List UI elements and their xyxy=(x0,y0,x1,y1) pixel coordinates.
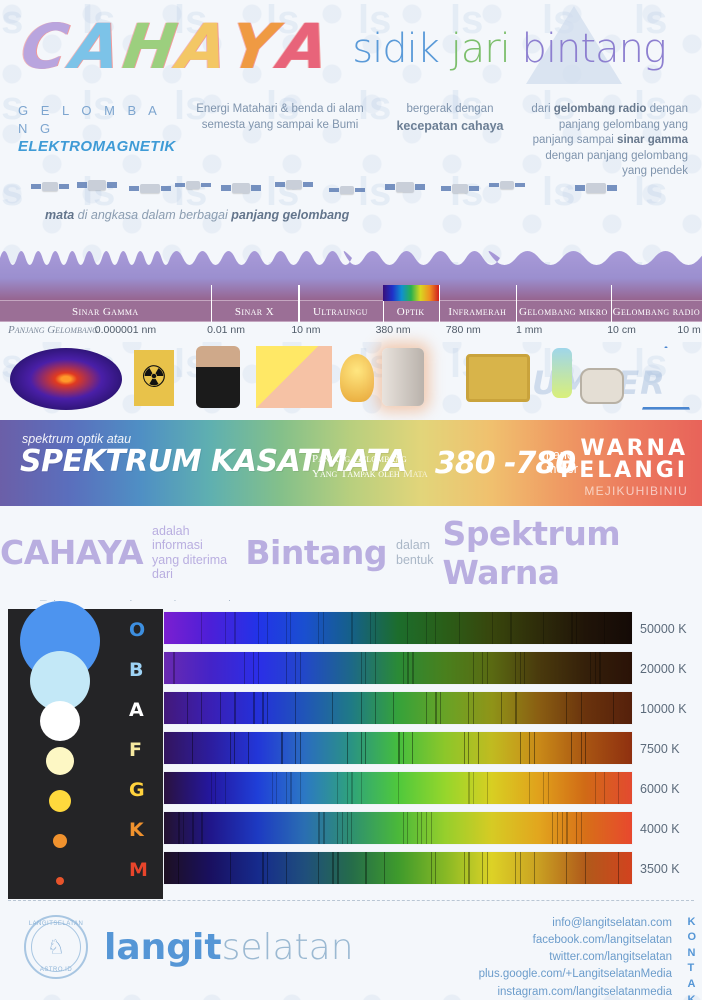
absorption-line xyxy=(375,612,377,644)
satellite-icon-10 xyxy=(586,183,606,193)
satellite-caption-bold1: mata xyxy=(45,208,74,222)
intro-column-energy: Energi Matahari & benda di alam semesta … xyxy=(182,102,378,180)
absorption-line xyxy=(351,772,353,804)
satellite-icon-8 xyxy=(452,184,468,193)
contact-line-3[interactable]: plus.google.com/+LangitselatanMedia xyxy=(479,966,672,983)
absorption-line xyxy=(234,612,236,644)
poster-footer: LANGITSELATAN ASTRO.ID ♘ langitselatan i… xyxy=(0,901,702,993)
absorption-line xyxy=(566,692,567,724)
spectrum-strip-F xyxy=(163,731,633,765)
wavelength-value-4: 780 nm xyxy=(446,324,481,336)
satellite-icon-4 xyxy=(232,183,250,193)
absorption-line xyxy=(618,852,619,884)
em-band-optik: Optik xyxy=(383,301,439,323)
absorption-line xyxy=(286,772,287,804)
absorption-line xyxy=(464,852,465,884)
subtitle-word-1: sidik xyxy=(352,26,439,72)
absorption-line xyxy=(403,812,404,844)
absorption-line xyxy=(365,652,366,684)
infographic-poster: lslslslslslslslslslslslslslslslslslslsls… xyxy=(0,0,702,1000)
absorption-line xyxy=(524,652,525,684)
absorption-line xyxy=(431,812,432,844)
contact-line-0[interactable]: info@langitselatan.com xyxy=(479,915,672,932)
absorption-line xyxy=(375,652,376,684)
absorption-line xyxy=(290,612,291,644)
absorption-line xyxy=(412,732,413,764)
absorption-line xyxy=(300,772,302,804)
wavelength-value-row: Panjang Gelombang 0.000001 nm0.01 nm10 n… xyxy=(0,322,702,342)
temperature-label-G: 6000 K xyxy=(640,782,680,796)
absorption-line xyxy=(482,852,483,884)
kontak-letter-1: O xyxy=(687,930,696,946)
em-source-icons-row: SUMBER ☢ xyxy=(0,342,702,420)
absorption-line xyxy=(613,692,614,724)
absorption-line xyxy=(267,692,268,724)
absorption-line xyxy=(337,772,338,804)
mobile-phone-icon xyxy=(552,348,572,398)
absorption-line xyxy=(581,692,583,724)
satellite-icon-9 xyxy=(500,181,514,189)
absorption-line xyxy=(375,692,376,724)
absorption-line xyxy=(529,772,530,804)
absorption-line xyxy=(361,692,363,724)
temperature-label-B: 20000 K xyxy=(640,662,687,676)
absorption-line xyxy=(295,732,296,764)
temperature-label-M: 3500 K xyxy=(640,862,680,876)
mejikuhibiniu-label: MEJIKUHIBINIU xyxy=(560,484,688,498)
absorption-line xyxy=(220,692,221,724)
brand-wordmark: langitselatan xyxy=(104,927,354,968)
absorption-line xyxy=(230,852,232,884)
intro-column-range: dari gelombang radio dengan panjang gelo… xyxy=(522,102,688,180)
absorption-line xyxy=(520,852,522,884)
absorption-line xyxy=(225,612,227,644)
absorption-line xyxy=(435,612,436,644)
absorption-line xyxy=(557,812,558,844)
absorption-line xyxy=(482,652,483,684)
absorption-line xyxy=(365,732,366,764)
kontak-letter-2: N xyxy=(687,946,696,962)
absorption-line xyxy=(290,772,292,804)
stmt-yang-diterima: yang diterima dari xyxy=(152,553,236,582)
radio-icon xyxy=(580,368,624,404)
absorption-line xyxy=(318,852,319,884)
absorption-line xyxy=(417,812,418,844)
em-band-gelombang-mikro: Gelombang mikro xyxy=(516,301,611,323)
absorption-line xyxy=(576,612,577,644)
absorption-line xyxy=(576,812,578,844)
visible-spectrum-banner: spektrum optik atau SPEKTRUM KASATMATA P… xyxy=(0,420,702,506)
absorption-line xyxy=(599,652,601,684)
absorption-line xyxy=(178,812,180,844)
title-letter-1: A xyxy=(67,16,128,78)
absorption-line xyxy=(398,732,400,764)
absorption-line xyxy=(318,812,320,844)
satellite-icon-2 xyxy=(140,184,160,193)
star-disc-F xyxy=(46,747,74,775)
absorption-line xyxy=(473,652,475,684)
intro-column-speed: bergerak dengan kecepatan cahaya xyxy=(390,102,510,180)
spectrum-strip-B xyxy=(163,651,633,685)
title-letter-0: C xyxy=(18,16,76,78)
intro-elektromagnetik-label: ELEKTROMAGNETIK xyxy=(18,137,170,157)
absorption-line xyxy=(407,652,409,684)
pg-word-panjang: Panjang xyxy=(312,453,350,465)
absorption-line xyxy=(543,612,544,644)
absorption-line xyxy=(590,652,591,684)
intro-gelombang-label: G E L O M B A N G xyxy=(18,102,170,137)
page-title: CAHAYA xyxy=(22,16,332,78)
satellite-icon-3 xyxy=(186,181,200,189)
title-letter-2: H xyxy=(119,16,184,78)
mini-rainbow-icon xyxy=(383,285,439,301)
absorption-line xyxy=(464,732,465,764)
absorption-line xyxy=(370,612,371,644)
spectrum-strip-A xyxy=(163,691,633,725)
absorption-line xyxy=(258,612,259,644)
absorption-line xyxy=(468,852,470,884)
absorption-line xyxy=(562,812,563,844)
contact-line-4[interactable]: instagram.com/langitselatanmedia xyxy=(479,984,672,1000)
absorption-line xyxy=(426,612,427,644)
em-band-divider-5 xyxy=(516,285,518,323)
radioactive-sign-icon: ☢ xyxy=(134,350,174,406)
absorption-line xyxy=(295,692,296,724)
absorption-line xyxy=(407,812,408,844)
em-band-label-bar: Sinar GammaSinar XUltraunguOptikInframer… xyxy=(0,300,702,322)
brand-part-selatan: selatan xyxy=(222,927,354,968)
absorption-line xyxy=(604,772,605,804)
stmt-adalah-informasi: adalah informasi xyxy=(152,524,236,553)
em-band-sinar-x: Sinar X xyxy=(211,301,299,323)
infrared-heater-icon xyxy=(382,348,424,406)
spectral-class-label-K: K xyxy=(129,819,144,841)
spectral-class-label-G: G xyxy=(129,779,145,801)
spectrum-strip-G xyxy=(163,771,633,805)
absorption-line xyxy=(215,772,216,804)
absorption-line xyxy=(421,812,422,844)
absorption-line xyxy=(337,852,339,884)
absorption-line xyxy=(178,852,179,884)
absorption-line xyxy=(468,772,470,804)
intro-column-em: G E L O M B A N G ELEKTROMAGNETIK xyxy=(18,102,170,180)
star-disc-K xyxy=(53,834,67,848)
stmt-spektrum-warna: Spektrum Warna xyxy=(443,514,702,592)
pg-word-yang: Yang xyxy=(312,468,337,480)
absorption-line xyxy=(492,612,494,644)
microwave-pizza-icon xyxy=(466,354,530,402)
absorption-line xyxy=(253,652,254,684)
wave-svg xyxy=(0,238,702,300)
absorption-line xyxy=(595,652,597,684)
absorption-line xyxy=(581,812,582,844)
absorption-line xyxy=(248,732,249,764)
stmt-bintang: Bintang xyxy=(245,533,387,572)
absorption-line xyxy=(548,772,549,804)
satellite-icon-0 xyxy=(42,182,58,191)
spectral-class-chart: O50000 KB20000 KA10000 KF7500 KG6000 KK4… xyxy=(0,601,702,901)
intro-range-p1: dari xyxy=(531,103,553,115)
wavelength-value-3: 380 nm xyxy=(376,324,411,336)
absorption-line xyxy=(332,692,333,724)
wavelength-row-label: Panjang Gelombang xyxy=(8,324,98,336)
intro-text-block: G E L O M B A N G ELEKTROMAGNETIK Energi… xyxy=(0,96,702,180)
temperature-label-O: 50000 K xyxy=(640,622,687,636)
absorption-line xyxy=(267,852,268,884)
absorption-line xyxy=(435,692,437,724)
intro-kecepatan-label: kecepatan cahaya xyxy=(390,118,510,135)
absorption-line xyxy=(342,812,343,844)
absorption-line xyxy=(253,692,255,724)
pg-word-gelombang: Gelombang xyxy=(354,453,407,465)
absorption-line xyxy=(211,772,212,804)
absorption-line xyxy=(403,732,405,764)
subtitle-word-2: jari xyxy=(451,26,510,72)
seal-top-text: LANGITSELATAN xyxy=(26,921,86,927)
em-band-divider-4 xyxy=(439,285,441,323)
absorption-line xyxy=(487,772,488,804)
stmt-bentuk: bentuk xyxy=(396,553,434,567)
spectral-class-label-F: F xyxy=(129,739,142,761)
seal-bottom-text: ASTRO.ID xyxy=(26,967,86,973)
absorption-line xyxy=(515,652,516,684)
em-band-divider-1 xyxy=(211,285,213,323)
contact-line-2[interactable]: twitter.com/langitselatan xyxy=(479,949,672,966)
seal-horse-icon: ♘ xyxy=(47,934,65,959)
absorption-line xyxy=(473,692,475,724)
absorption-line xyxy=(300,652,301,684)
absorption-line xyxy=(520,732,522,764)
gamma-sky-map-icon xyxy=(10,348,122,410)
absorption-line xyxy=(435,852,436,884)
banner-panjang-gelombang: Panjang Gelombang Yang Tampak oleh Mata xyxy=(312,450,428,481)
wavelength-value-1: 0.01 nm xyxy=(207,324,245,336)
poster-header: CAHAYA sidik jari bintang xyxy=(0,0,702,96)
wavelength-value-2: 10 nm xyxy=(291,324,320,336)
absorption-line xyxy=(515,692,517,724)
temperature-label-F: 7500 K xyxy=(640,742,680,756)
star-disc-G xyxy=(49,790,71,812)
absorption-line xyxy=(234,732,235,764)
absorption-line xyxy=(585,732,586,764)
page-subtitle: sidik jari bintang xyxy=(352,26,666,72)
absorption-line xyxy=(412,652,414,684)
satellite-icon-6 xyxy=(340,186,354,194)
absorption-line xyxy=(187,692,188,724)
absorption-line xyxy=(225,772,226,804)
kontak-letter-4: A xyxy=(687,977,696,993)
satellite-caption-bold2: panjang gelombang xyxy=(231,208,349,222)
spectrum-strip-M xyxy=(163,851,633,885)
spectrum-strip-O xyxy=(163,611,633,645)
absorption-line xyxy=(272,772,273,804)
absorption-line xyxy=(244,652,246,684)
brand-part-langit: langit xyxy=(104,927,222,968)
absorption-line xyxy=(323,612,324,644)
absorption-line xyxy=(192,812,194,844)
intro-range-b2: sinar gamma xyxy=(617,134,688,146)
absorption-line xyxy=(201,612,202,644)
absorption-line xyxy=(487,852,488,884)
absorption-line xyxy=(365,852,367,884)
subtitle-word-3: bintang xyxy=(522,26,666,72)
title-letter-3: A xyxy=(175,16,236,78)
satellite-illustration-row: mata di angkasa dalam berbagai panjang g… xyxy=(0,180,702,238)
absorption-line xyxy=(183,812,185,844)
absorption-line xyxy=(267,612,268,644)
intro-bergerak-label: bergerak dengan xyxy=(390,102,510,118)
absorption-line xyxy=(581,732,583,764)
absorption-line xyxy=(300,732,302,764)
absorption-line xyxy=(473,772,475,804)
xray-child-icon xyxy=(196,346,240,408)
absorption-line xyxy=(201,812,203,844)
absorption-line xyxy=(515,852,516,884)
satellite-caption-mid: di angkasa dalam berbagai xyxy=(74,208,231,222)
absorption-line xyxy=(230,732,231,764)
wavelength-value-5: 1 mm xyxy=(516,324,542,336)
absorption-line xyxy=(571,732,572,764)
absorption-line xyxy=(332,852,334,884)
absorption-line xyxy=(351,612,353,644)
absorption-line xyxy=(566,812,568,844)
em-band-sinar-gamma: Sinar Gamma xyxy=(0,301,211,323)
absorption-line xyxy=(403,652,405,684)
title-letter-5: A xyxy=(276,16,337,78)
em-band-gelombang-radio: Gelombang radio xyxy=(611,301,702,323)
wavelength-value-6: 10 cm xyxy=(607,324,636,336)
satellite-icon-5 xyxy=(286,180,302,189)
star-disc-M xyxy=(56,877,64,885)
absorption-line xyxy=(426,692,427,724)
absorption-line xyxy=(595,772,597,804)
absorption-line xyxy=(407,612,408,644)
spectral-class-label-A: A xyxy=(129,699,144,721)
absorption-line xyxy=(347,732,348,764)
statement-block: CAHAYA adalah informasi yang diterima da… xyxy=(0,506,702,601)
absorption-line xyxy=(347,812,348,844)
absorption-line xyxy=(384,852,385,884)
absorption-line xyxy=(604,612,605,644)
intro-range-p3: dengan panjang gelombang yang pendek xyxy=(545,150,688,178)
wavelength-wave-graphic xyxy=(0,238,702,300)
wavelength-value-7: 10 m xyxy=(677,324,700,336)
absorption-line xyxy=(510,612,512,644)
absorption-line xyxy=(478,732,479,764)
intro-range-b1: gelombang radio xyxy=(554,103,647,115)
contact-list: info@langitselatan.comfacebook.com/langi… xyxy=(479,915,672,1000)
warna-line-1: WARNA xyxy=(560,438,688,460)
contact-line-1[interactable]: facebook.com/langitselatan xyxy=(479,932,672,949)
absorption-line xyxy=(337,812,338,844)
absorption-line xyxy=(262,692,264,724)
spectral-class-label-B: B xyxy=(129,659,143,681)
absorption-line xyxy=(262,852,264,884)
temperature-label-A: 10000 K xyxy=(640,702,687,716)
absorption-line xyxy=(201,692,202,724)
kontak-letter-3: T xyxy=(687,961,696,977)
pg-word-mata: Mata xyxy=(403,468,428,480)
absorption-line xyxy=(543,772,544,804)
absorption-line xyxy=(468,732,469,764)
absorption-line xyxy=(585,852,586,884)
uv-sunbathing-icon xyxy=(256,346,332,408)
spectral-class-label-O: O xyxy=(129,619,145,641)
absorption-line xyxy=(520,652,521,684)
warna-line-2: PELANGI xyxy=(560,460,688,482)
banner-warna-pelangi: WARNA PELANGI MEJIKUHIBINIU xyxy=(560,438,688,499)
absorption-line xyxy=(534,732,536,764)
em-band-inframerah: Inframerah xyxy=(439,301,516,323)
pg-word-tampak: Tampak oleh xyxy=(341,468,400,480)
absorption-line xyxy=(571,612,573,644)
spectral-class-label-M: M xyxy=(129,859,148,881)
kontak-vertical-label: KONTAK xyxy=(687,915,696,1000)
lightbulb-icon xyxy=(340,354,374,402)
absorption-line xyxy=(351,812,352,844)
absorption-line xyxy=(281,732,283,764)
em-band-ultraungu: Ultraungu xyxy=(298,301,382,323)
absorption-line xyxy=(534,852,535,884)
absorption-line xyxy=(361,652,362,684)
absorption-line xyxy=(552,812,553,844)
wavelength-value-0: 0.000001 nm xyxy=(95,324,156,336)
temperature-label-K: 4000 K xyxy=(640,822,680,836)
absorption-line xyxy=(566,852,567,884)
em-band-divider-6 xyxy=(611,285,613,323)
absorption-line xyxy=(276,772,277,804)
absorption-line xyxy=(426,812,427,844)
absorption-line xyxy=(295,652,296,684)
absorption-line xyxy=(393,692,394,724)
kontak-letter-5: K xyxy=(687,993,696,1000)
absorption-line xyxy=(529,732,530,764)
absorption-line xyxy=(440,692,441,724)
satellite-icon-1 xyxy=(88,180,106,190)
stmt-cahaya: CAHAYA xyxy=(0,533,143,572)
spectrum-strip-K xyxy=(163,811,633,845)
satellite-caption: mata di angkasa dalam berbagai panjang g… xyxy=(45,208,349,222)
absorption-line xyxy=(234,692,236,724)
absorption-line xyxy=(286,612,288,644)
absorption-line xyxy=(468,692,469,724)
absorption-line xyxy=(258,652,259,684)
absorption-line xyxy=(286,652,287,684)
absorption-line xyxy=(459,612,460,644)
absorption-line xyxy=(173,652,175,684)
absorption-line xyxy=(501,692,502,724)
absorption-line xyxy=(361,732,363,764)
absorption-line xyxy=(431,852,432,884)
absorption-line xyxy=(398,772,399,804)
absorption-line xyxy=(347,772,349,804)
kontak-letter-0: K xyxy=(687,915,696,931)
langitselatan-seal-icon: LANGITSELATAN ASTRO.ID ♘ xyxy=(24,915,88,979)
em-band-divider-2 xyxy=(298,285,300,323)
absorption-line xyxy=(192,732,193,764)
satellite-icon-7 xyxy=(396,182,414,192)
absorption-line xyxy=(618,772,619,804)
absorption-line xyxy=(323,812,325,844)
stmt-dalam: dalam xyxy=(396,538,434,552)
absorption-line xyxy=(361,772,363,804)
absorption-line xyxy=(487,652,488,684)
absorption-line xyxy=(318,612,319,644)
star-disc-A xyxy=(40,701,80,741)
absorption-line xyxy=(286,852,288,884)
